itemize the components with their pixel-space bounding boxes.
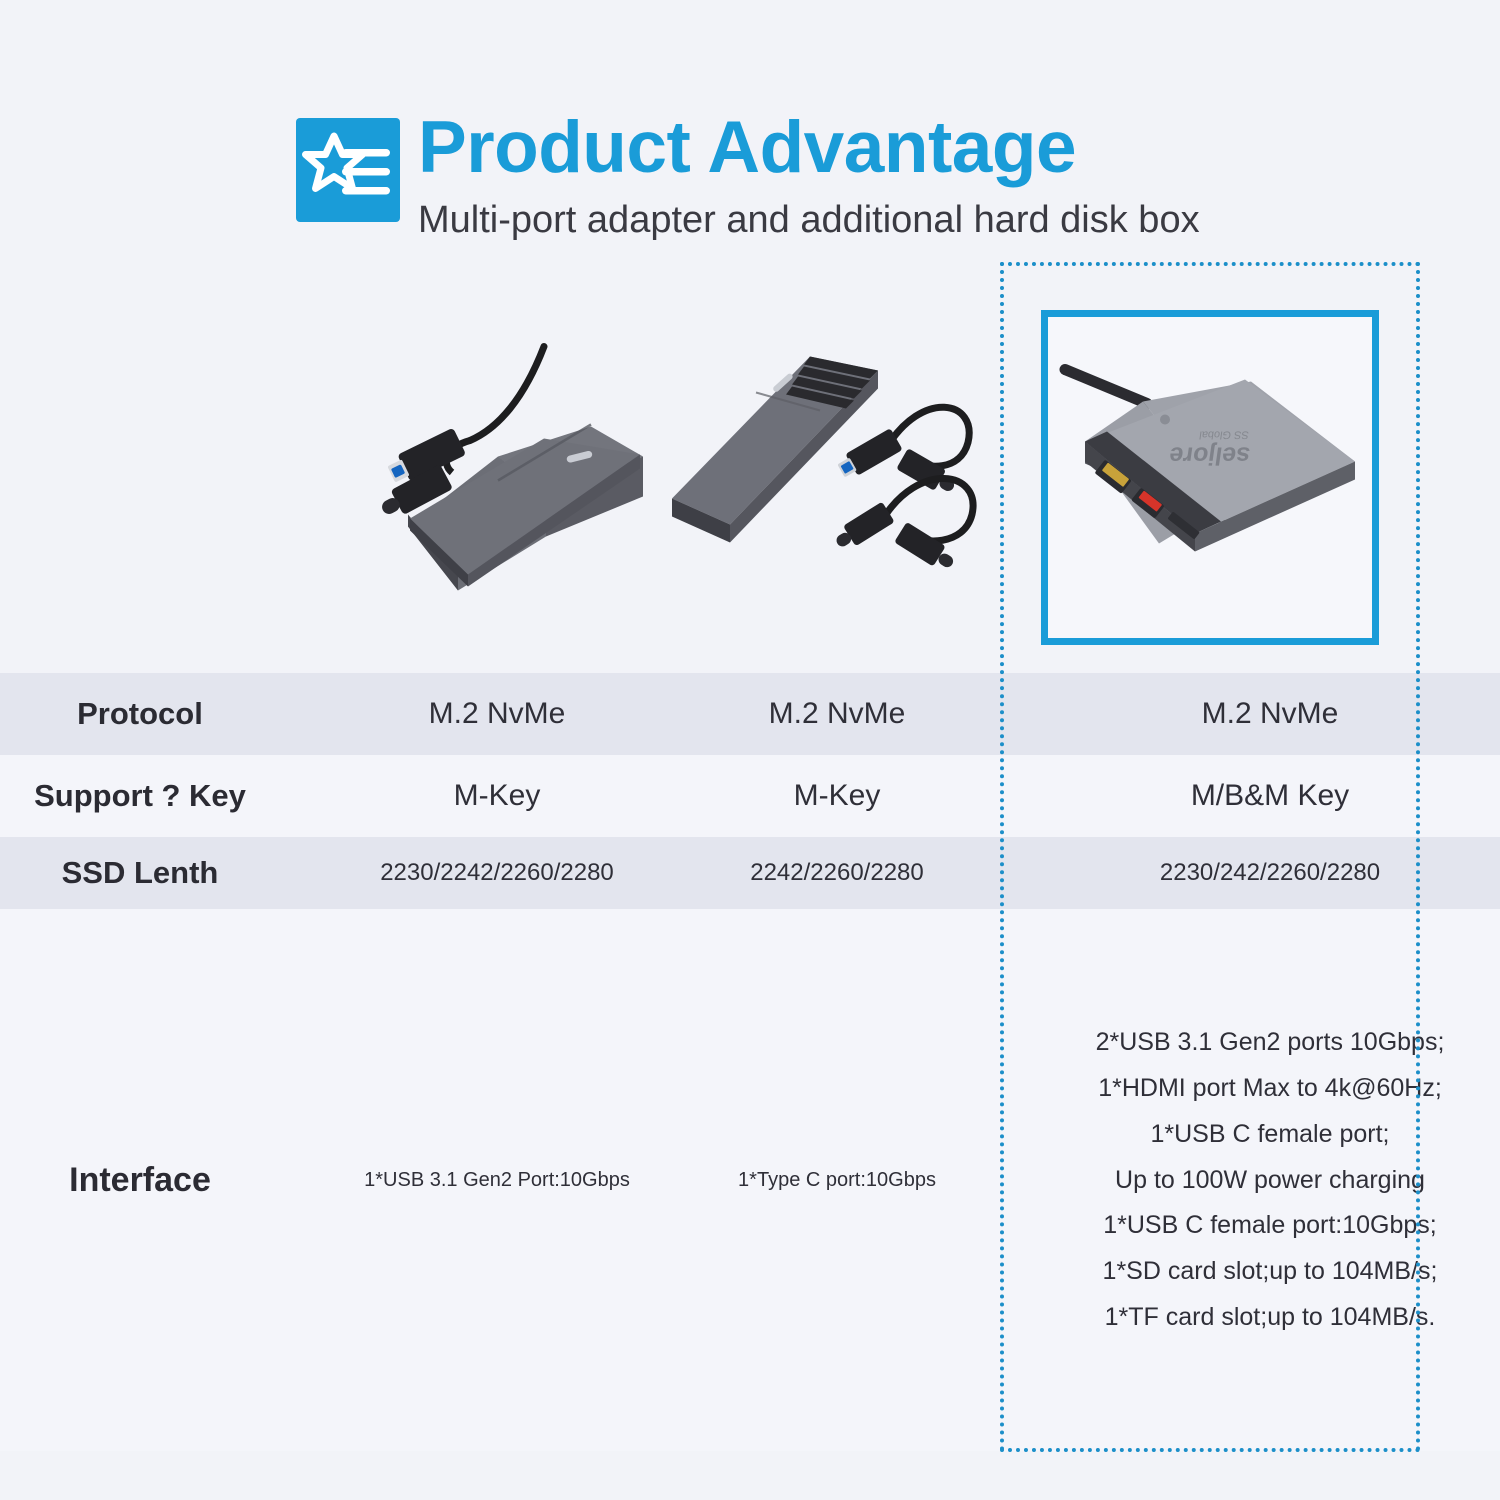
interface-line: 1*SD card slot;up to 104MB/s; [1060, 1257, 1480, 1286]
row-label-ssd-length: SSD Lenth [0, 855, 280, 891]
interface-col2: 1*Type C port:10Gbps [667, 1169, 1007, 1192]
interface-line: 1*HDMI port Max to 4k@60Hz; [1060, 1074, 1480, 1103]
support-key-col2: M-Key [667, 779, 1007, 813]
support-key-col1: M-Key [327, 779, 667, 813]
hub-brand-text: seljore [1167, 441, 1252, 469]
product-art-3: seljore SS Global [1055, 343, 1365, 588]
table-row-protocol: Protocol M.2 NvMe M.2 NvMe M.2 NvMe [0, 673, 1500, 755]
support-key-col3: M/B&M Key [1060, 779, 1480, 813]
ssd-length-col2: 2242/2260/2280 [667, 859, 1007, 887]
protocol-col3: M.2 NvMe [1060, 697, 1480, 731]
row-label-protocol: Protocol [0, 696, 280, 732]
interface-line: 1*USB C female port:10Gbps; [1060, 1211, 1480, 1240]
product-image-m2-enclosure [650, 258, 1000, 673]
interface-line: 1*USB C female port; [1060, 1120, 1480, 1149]
protocol-col1: M.2 NvMe [327, 697, 667, 731]
row-label-support-key: Support ? Key [0, 778, 280, 814]
star-list-icon [296, 118, 400, 222]
page-title: Product Advantage [418, 112, 1200, 184]
table-row-support-key: Support ? Key M-Key M-Key M/B&M Key [0, 755, 1500, 837]
table-row-ssd-length: SSD Lenth 2230/2242/2260/2280 2242/2260/… [0, 837, 1500, 909]
row-label-interface: Interface [0, 1161, 280, 1200]
hub-brand-subtext: SS Global [1198, 428, 1249, 440]
header-inner: Product Advantage Multi-port adapter and… [296, 112, 1200, 243]
protocol-col2: M.2 NvMe [667, 697, 1007, 731]
product-art-2 [660, 348, 990, 583]
table-row-interface: Interface 1*USB 3.1 Gen2 Port:10Gbps 1*T… [0, 909, 1500, 1451]
header-text-block: Product Advantage Multi-port adapter and… [418, 112, 1200, 243]
ssd-length-col1: 2230/2242/2260/2280 [327, 859, 667, 887]
spec-comparison-table: Protocol M.2 NvMe M.2 NvMe M.2 NvMe Supp… [0, 673, 1500, 1451]
product-art-1 [348, 328, 648, 603]
page-subtitle: Multi-port adapter and additional hard d… [418, 198, 1200, 244]
interface-line: Up to 100W power charging [1060, 1166, 1480, 1195]
page-header: Product Advantage Multi-port adapter and… [0, 0, 1500, 258]
ssd-length-col3: 2230/242/2260/2280 [1060, 859, 1480, 887]
interface-line: 2*USB 3.1 Gen2 ports 10Gbps; [1060, 1028, 1480, 1057]
interface-line: 1*TF card slot;up to 104MB/s. [1060, 1303, 1480, 1332]
interface-col1: 1*USB 3.1 Gen2 Port:10Gbps [327, 1169, 667, 1192]
interface-col3: 2*USB 3.1 Gen2 ports 10Gbps; 1*HDMI port… [1060, 1028, 1480, 1331]
